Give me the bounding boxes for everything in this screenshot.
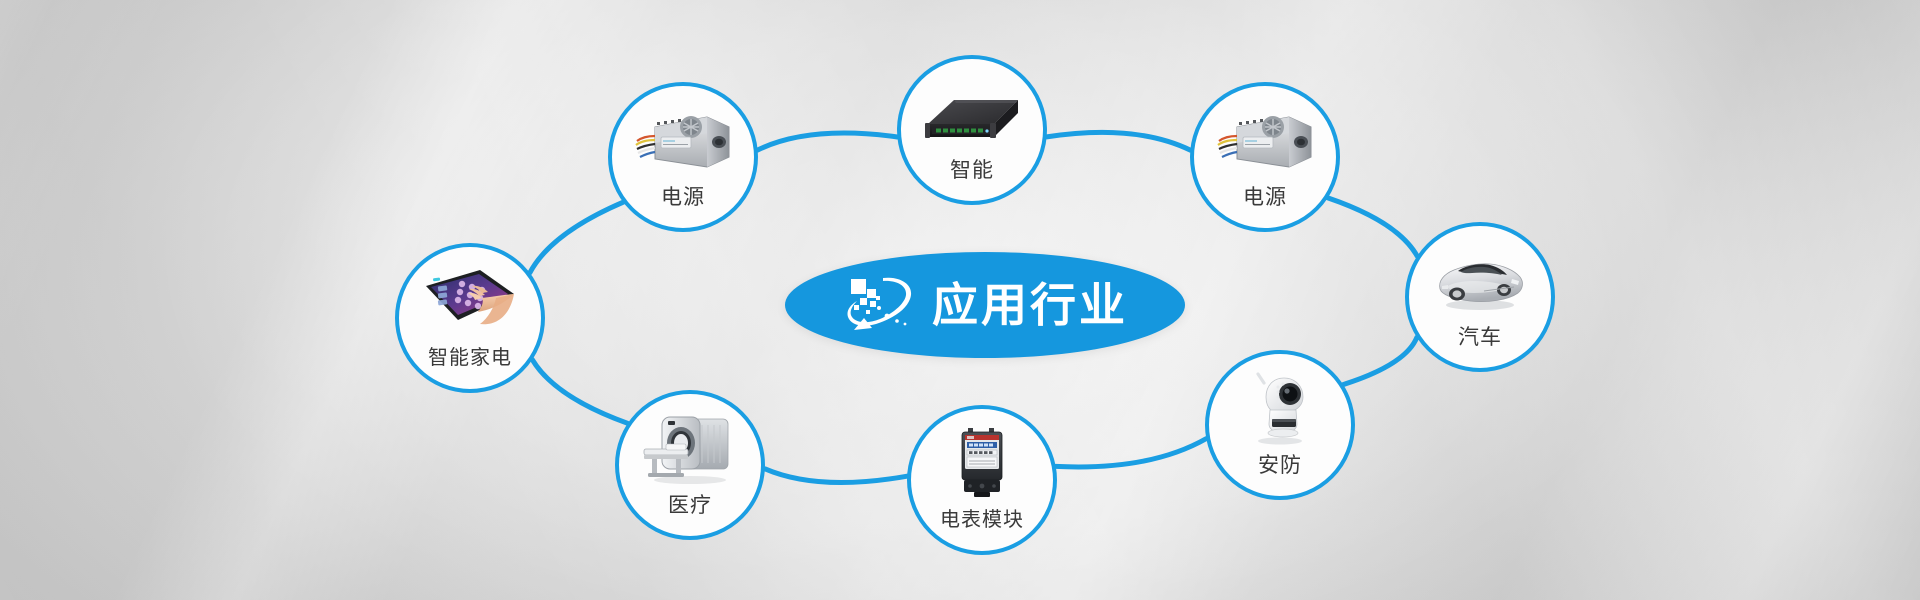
connector-security-to-meter <box>1056 439 1206 467</box>
node-label: 安防 <box>1258 455 1302 476</box>
center-badge: 应用行业 <box>785 252 1185 358</box>
connector-smart-home-to-power-left <box>530 202 623 273</box>
node-medical[interactable]: 医疗 <box>615 390 765 540</box>
node-meter[interactable]: 电表模块 <box>907 405 1057 555</box>
rack-server-icon <box>920 76 1024 152</box>
connector-medical-to-smart-home <box>532 360 627 424</box>
node-label: 电源 <box>661 187 705 208</box>
pc-power-supply-icon <box>1213 103 1317 179</box>
connector-power-right-to-automotive <box>1328 198 1417 256</box>
node-power-right[interactable]: 电源 <box>1190 82 1340 232</box>
node-security[interactable]: 安防 <box>1205 350 1355 500</box>
node-smart-home[interactable]: 智能家电 <box>395 243 545 393</box>
connector-meter-to-medical <box>765 469 907 483</box>
connector-automotive-to-security <box>1343 337 1417 384</box>
node-smart[interactable]: 智能 <box>897 55 1047 205</box>
application-industries-banner: 应用行业 <box>0 0 1920 600</box>
badge-title: 应用行业 <box>932 282 1128 328</box>
node-label: 电表模块 <box>940 510 1024 530</box>
node-label: 医疗 <box>668 495 712 516</box>
connector-smart-to-power-right <box>1047 132 1191 150</box>
node-automotive[interactable]: 汽车 <box>1405 222 1555 372</box>
node-label: 汽车 <box>1458 327 1502 348</box>
node-label: 智能家电 <box>428 348 512 368</box>
electric-meter-icon <box>930 426 1034 502</box>
node-power-left[interactable]: 电源 <box>608 82 758 232</box>
connector-power-left-to-smart <box>758 133 898 150</box>
ct-scanner-icon <box>638 411 742 487</box>
sports-car-icon <box>1428 243 1532 319</box>
ip-camera-icon <box>1228 371 1332 447</box>
node-label: 智能 <box>950 160 994 181</box>
node-label: 电源 <box>1243 187 1287 208</box>
orbit-pixel-logo-icon <box>842 272 918 338</box>
tablet-touch-icon <box>418 264 522 340</box>
pc-power-supply-icon <box>631 103 735 179</box>
